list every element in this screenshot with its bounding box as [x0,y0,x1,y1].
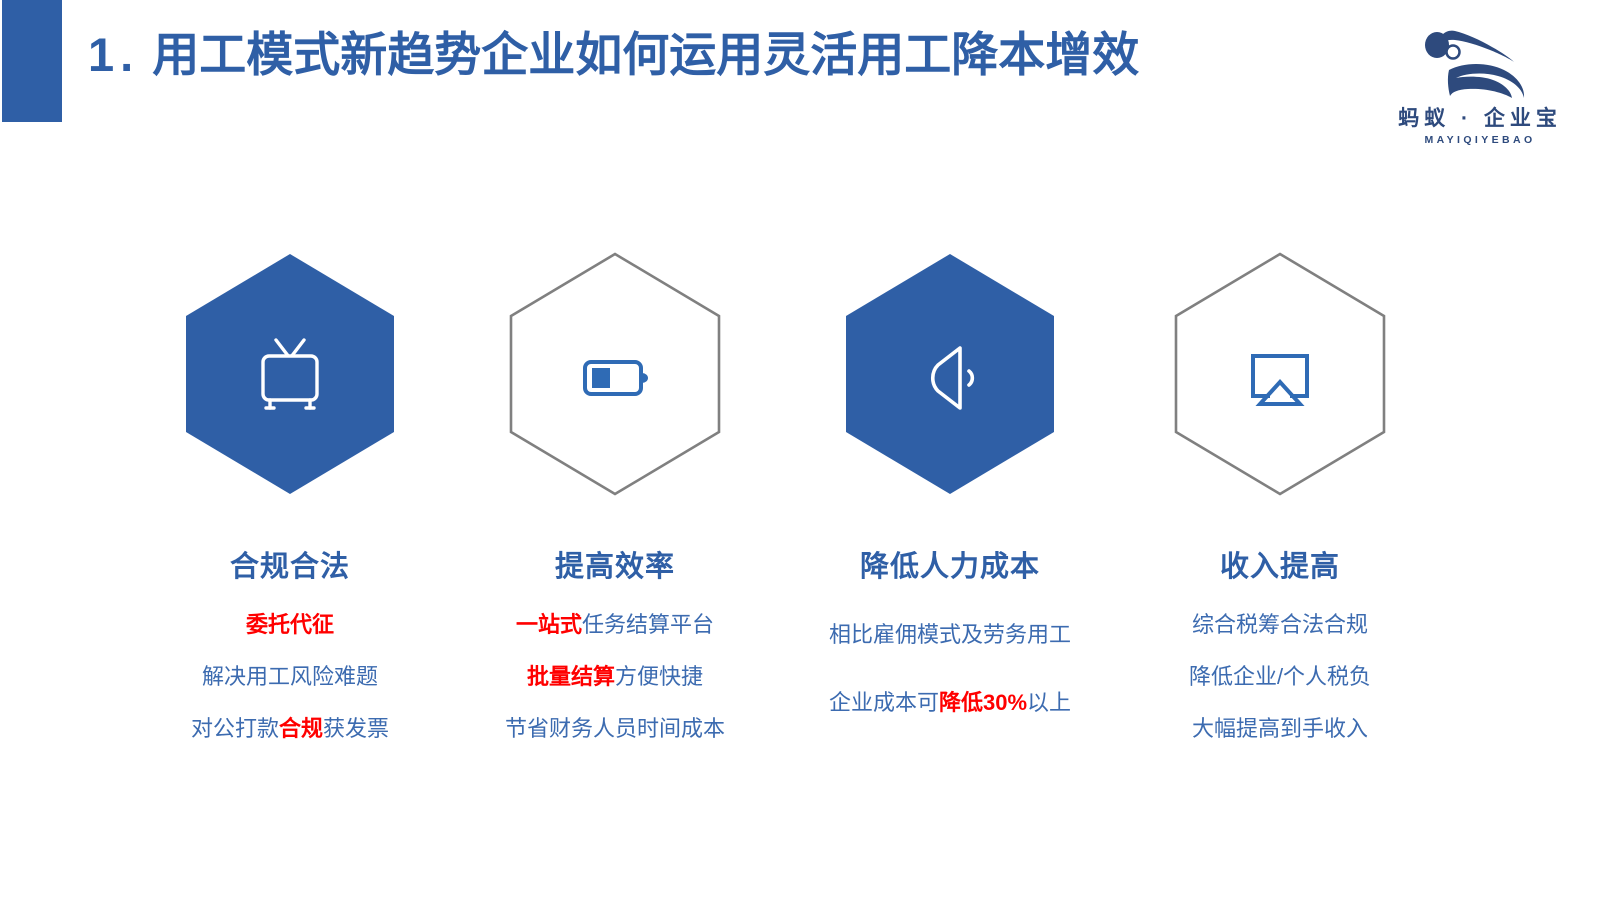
body-line: 委托代征 [125,610,455,640]
feature-column-1: 合规合法 委托代征解决用工风险难题对公打款合规获发票 [125,250,455,766]
hexagon-filled-1 [125,250,455,500]
plain-text: 解决用工风险难题 [202,664,378,689]
plain-text: 方便快捷 [615,664,703,689]
body-line: 降低企业/个人税负 [1115,662,1445,692]
body-line: 综合税筹合法合规 [1115,610,1445,640]
column-body-1: 委托代征解决用工风险难题对公打款合规获发票 [125,610,455,744]
plain-text: 获发票 [323,716,389,741]
battery-icon [585,362,648,394]
plain-text: 降低企业/个人税负 [1189,664,1371,689]
body-line: 大幅提高到手收入 [1115,714,1445,744]
feature-column-2: 提高效率 一站式任务结算平台批量结算方便快捷节省财务人员时间成本 [450,250,780,766]
body-line: 对公打款合规获发票 [125,714,455,744]
column-heading-2: 提高效率 [450,548,780,586]
highlight-text: 降低30% [939,690,1027,715]
body-line: 企业成本可降低30%以上 [785,688,1115,718]
column-heading-3: 降低人力成本 [785,548,1115,586]
highlight-text: 委托代征 [246,612,334,637]
brand-logo: 蚂蚁 · 企业宝 MAYIQIYEBAO [1392,18,1568,148]
logo-name-en: MAYIQIYEBAO [1392,132,1568,148]
plain-text: 大幅提高到手收入 [1192,716,1368,741]
page-title-text: 用工模式新趋势企业如何运用灵活用工降本增效 [152,28,1139,81]
body-line: 节省财务人员时间成本 [450,714,780,744]
hexagon-filled-3 [785,250,1115,500]
hexagon-outline-2 [450,250,780,500]
body-line: 解决用工风险难题 [125,662,455,692]
plain-text: 相比雇佣模式及劳务用工 [829,622,1071,647]
slide-root: 1. 用工模式新趋势企业如何运用灵活用工降本增效 蚂蚁 · 企业宝 MAYIQI… [0,0,1600,900]
highlight-text: 合规 [279,716,323,741]
feature-column-4: 收入提高 综合税筹合法合规降低企业/个人税负大幅提高到手收入 [1115,250,1445,766]
column-body-3: 相比雇佣模式及劳务用工企业成本可降低30%以上 [785,620,1115,718]
column-heading-4: 收入提高 [1115,548,1445,586]
plain-text: 以上 [1027,690,1071,715]
column-body-2: 一站式任务结算平台批量结算方便快捷节省财务人员时间成本 [450,610,780,744]
body-line: 相比雇佣模式及劳务用工 [785,620,1115,650]
column-heading-1: 合规合法 [125,548,455,586]
hexagon-outline-4 [1115,250,1445,500]
page-title-number: 1. [88,28,139,81]
highlight-text: 批量结算 [527,664,615,689]
feature-columns: 合规合法 委托代征解决用工风险难题对公打款合规获发票 提高效率 一站式任务结算平… [0,250,1600,810]
plain-text: 综合税筹合法合规 [1192,612,1368,637]
feature-column-3: 降低人力成本 相比雇佣模式及劳务用工企业成本可降低30%以上 [785,250,1115,756]
body-line: 批量结算方便快捷 [450,662,780,692]
title-accent-bar [2,0,62,122]
plain-text: 对公打款 [191,716,279,741]
plain-text: 企业成本可 [829,690,939,715]
ant-mark-icon [1392,18,1568,110]
plain-text: 任务结算平台 [582,612,714,637]
body-line: 一站式任务结算平台 [450,610,780,640]
logo-name-cn: 蚂蚁 · 企业宝 [1392,106,1568,132]
page-title: 1. 用工模式新趋势企业如何运用灵活用工降本增效 [88,20,1139,90]
highlight-text: 一站式 [516,612,582,637]
plain-text: 节省财务人员时间成本 [505,716,725,741]
column-body-4: 综合税筹合法合规降低企业/个人税负大幅提高到手收入 [1115,610,1445,744]
